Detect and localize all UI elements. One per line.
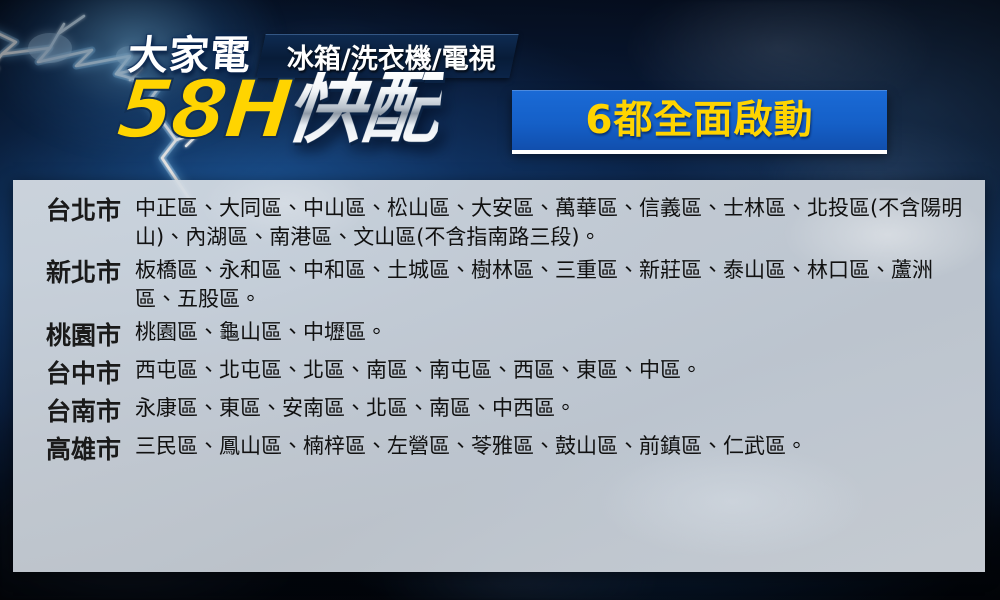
city-label: 新北市 (13, 256, 135, 289)
district-list: 永康區、東區、安南區、北區、南區、中西區。 (135, 394, 971, 423)
promo-banner: 大家電 冰箱/洗衣機/電視 58H 快配 6都全面啟動 台北市中正區、大同區、中… (0, 0, 1000, 600)
hero-word-text: 快配 (282, 72, 444, 146)
cta-label: 6都全面啟動 (585, 101, 813, 140)
table-row: 台中市西屯區、北屯區、北區、南區、南屯區、西區、東區、中區。 (13, 354, 985, 392)
table-row: 台南市永康區、東區、安南區、北區、南區、中西區。 (13, 392, 985, 430)
city-label: 台中市 (13, 356, 135, 390)
header: 大家電 冰箱/洗衣機/電視 58H 快配 6都全面啟動 (0, 0, 1000, 176)
table-row: 台北市中正區、大同區、中山區、松山區、大安區、萬華區、信義區、士林區、北投區(不… (13, 192, 985, 254)
city-label: 桃園市 (13, 318, 135, 352)
table-row: 桃園市桃園區、龜山區、中壢區。 (13, 316, 985, 354)
district-list: 三民區、鳳山區、楠梓區、左營區、苓雅區、鼓山區、前鎮區、仁武區。 (135, 432, 971, 461)
cta-banner[interactable]: 6都全面啟動 (512, 90, 887, 150)
district-list: 西屯區、北屯區、北區、南區、南屯區、西區、東區、中區。 (135, 356, 971, 385)
district-list: 板橋區、永和區、中和區、土城區、樹林區、三重區、新莊區、泰山區、林口區、蘆洲區、… (135, 256, 971, 314)
coverage-panel: 台北市中正區、大同區、中山區、松山區、大安區、萬華區、信義區、士林區、北投區(不… (13, 180, 985, 572)
hero-headline: 58H 快配 (118, 72, 440, 146)
table-row: 高雄市三民區、鳳山區、楠梓區、左營區、苓雅區、鼓山區、前鎮區、仁武區。 (13, 430, 985, 468)
city-label: 高雄市 (13, 432, 135, 466)
city-label: 台北市 (13, 194, 135, 227)
city-label: 台南市 (13, 394, 135, 428)
district-list: 桃園區、龜山區、中壢區。 (135, 318, 971, 347)
hero-number-text: 58H (114, 73, 294, 147)
district-list: 中正區、大同區、中山區、松山區、大安區、萬華區、信義區、士林區、北投區(不含陽明… (135, 194, 971, 252)
table-row: 新北市板橋區、永和區、中和區、土城區、樹林區、三重區、新莊區、泰山區、林口區、蘆… (13, 254, 985, 316)
coverage-row-list: 台北市中正區、大同區、中山區、松山區、大安區、萬華區、信義區、士林區、北投區(不… (13, 192, 985, 468)
